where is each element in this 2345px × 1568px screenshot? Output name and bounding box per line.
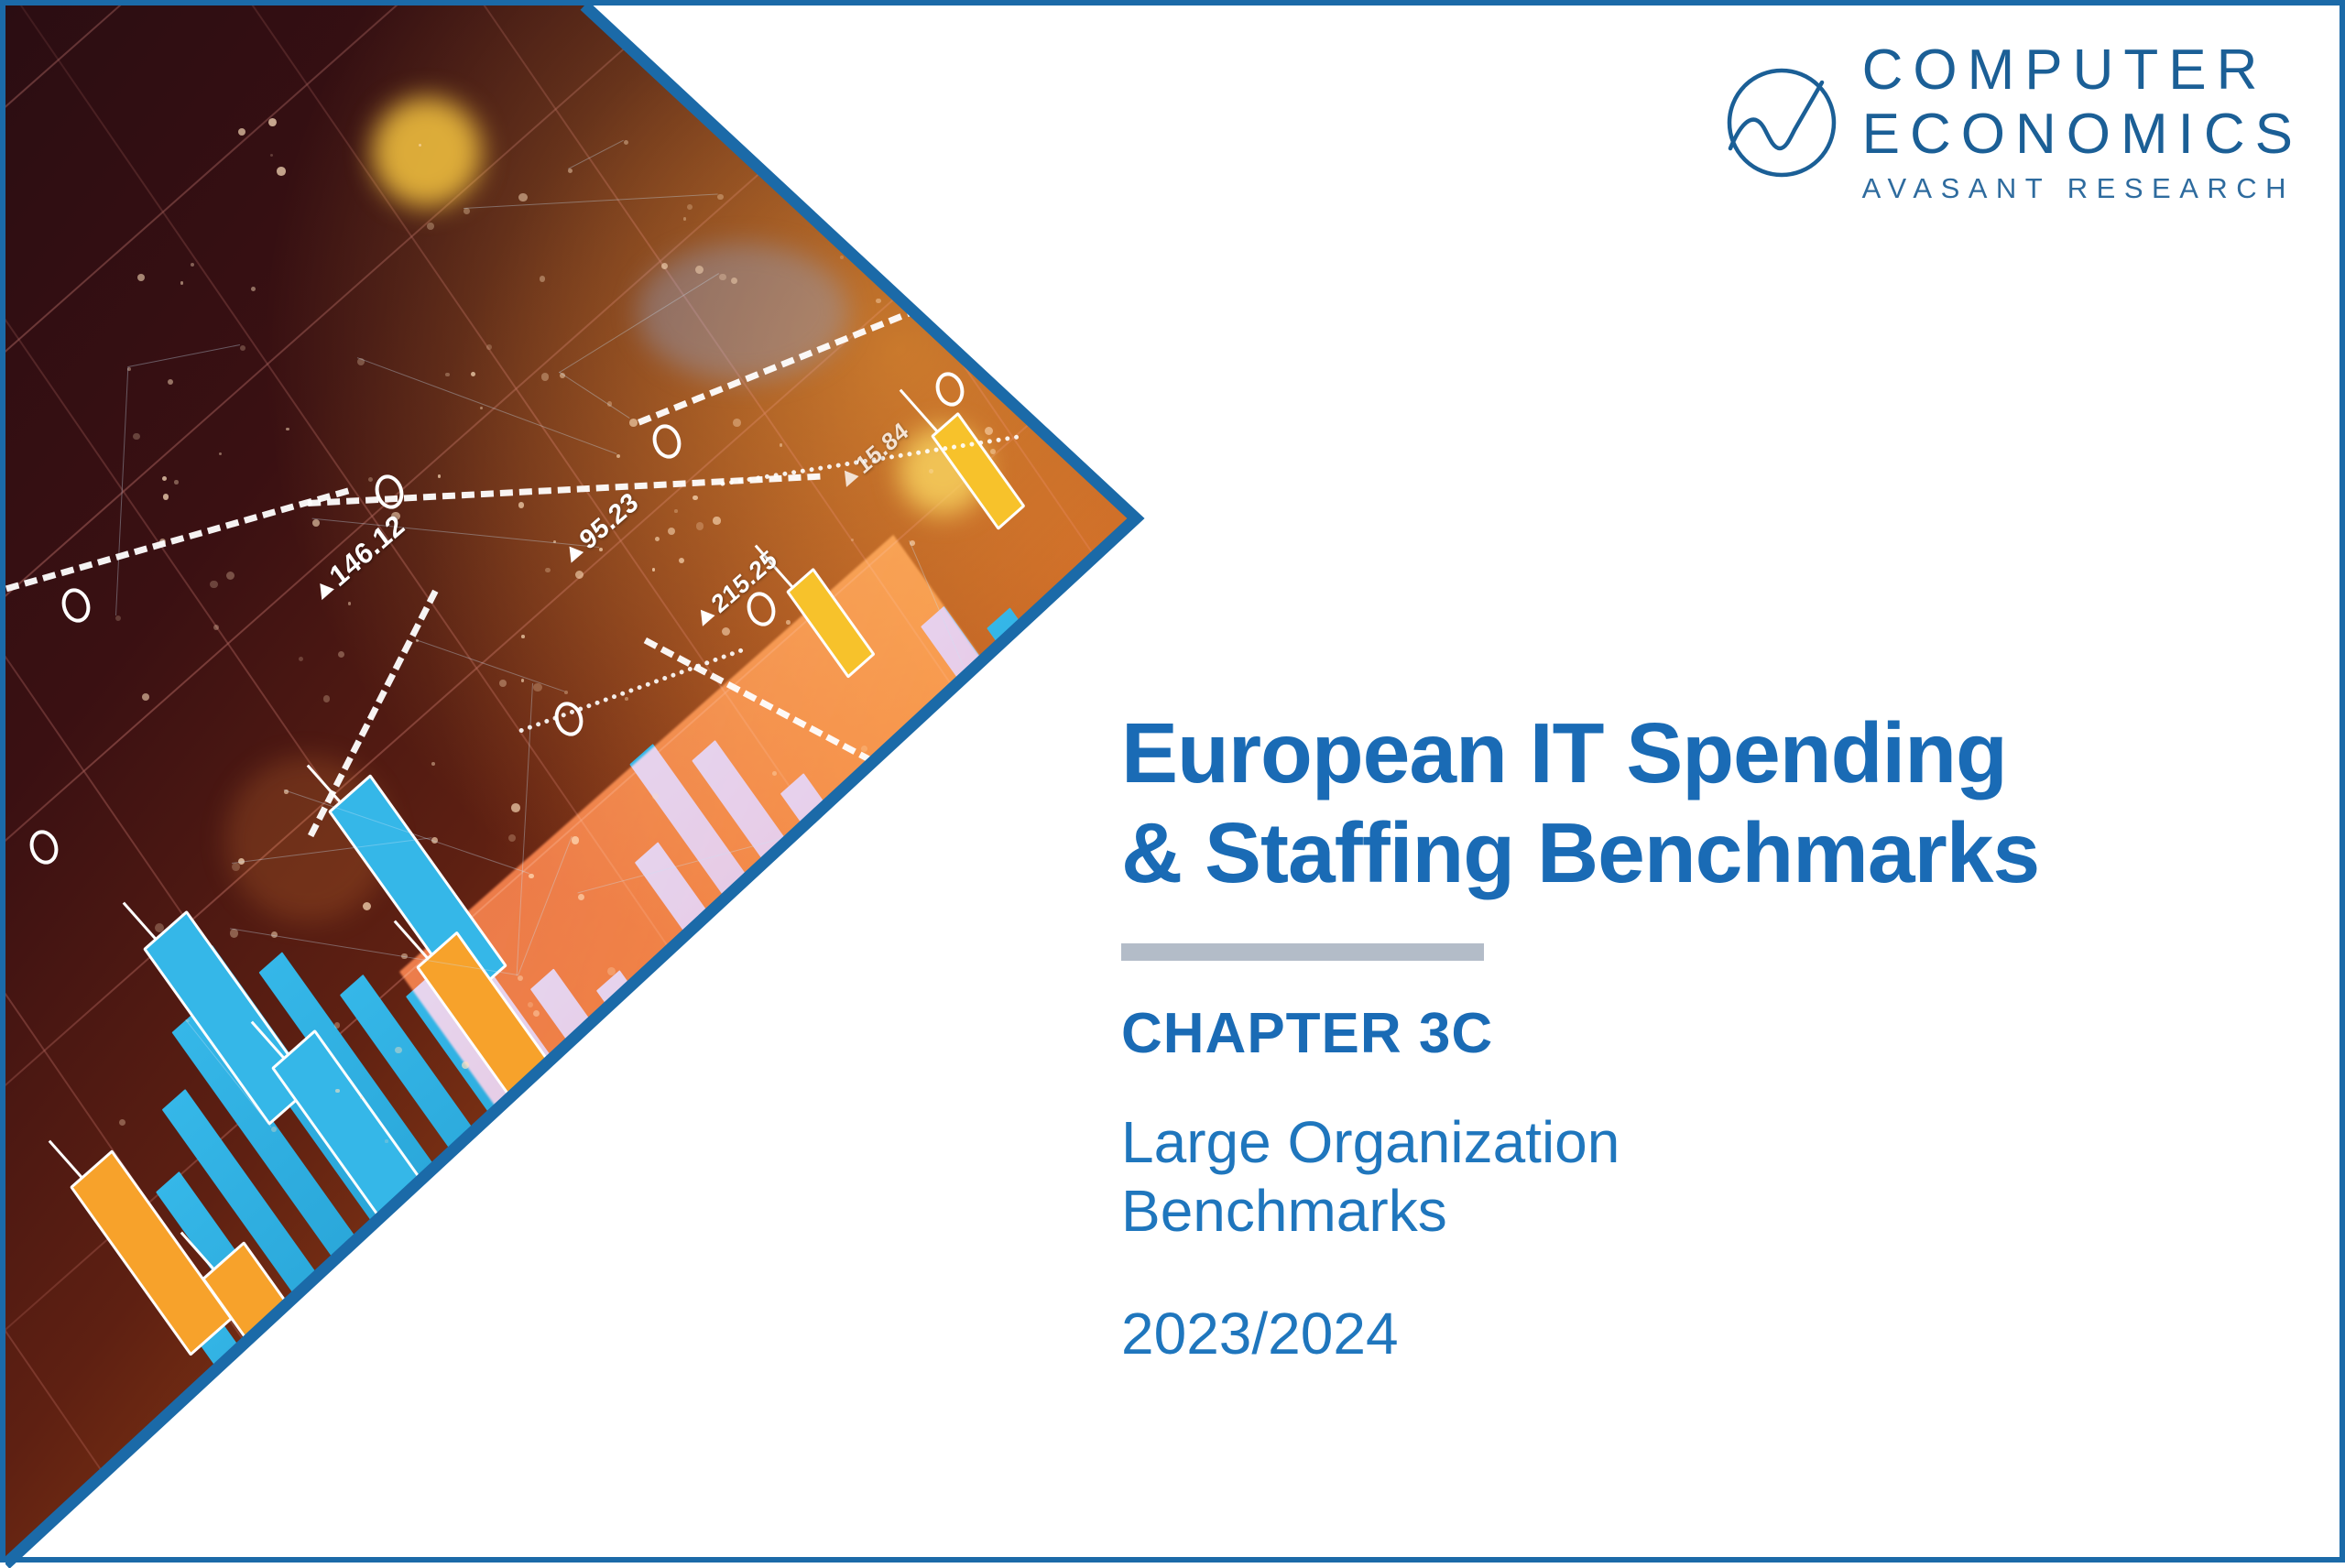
network-dot	[395, 1047, 401, 1053]
logo-line-1: COMPUTER	[1862, 42, 2303, 99]
network-dot	[875, 1126, 882, 1133]
network-dot	[720, 1007, 725, 1012]
cover-artwork: 146.12 95.23 215.25 15.84	[5, 5, 1151, 1568]
network-dot	[717, 194, 723, 200]
chart-bar	[699, 1146, 1042, 1568]
chart-bar	[655, 961, 933, 1338]
cover-copy: European IT Spending & Staffing Benchmar…	[1121, 703, 2266, 1367]
network-dot	[464, 208, 470, 214]
candle-bar	[518, 1236, 657, 1409]
chart-bar	[760, 1154, 1075, 1568]
network-dot	[1002, 1032, 1007, 1037]
network-dot	[687, 204, 693, 210]
chart-bar	[931, 802, 1151, 1127]
network-dot	[997, 740, 1001, 745]
chart-bar	[819, 1157, 1110, 1554]
network-dot	[714, 124, 717, 126]
chart-bar	[623, 1197, 972, 1568]
network-dot	[696, 522, 704, 530]
network-dot	[892, 886, 899, 892]
chart-bar	[868, 806, 1131, 1162]
network-dot	[174, 480, 179, 485]
network-dot	[1000, 935, 1009, 944]
network-dot	[312, 519, 320, 527]
network-dot	[624, 140, 628, 145]
network-dot	[540, 276, 545, 281]
network-dot	[731, 278, 737, 284]
artwork-photo: 146.12 95.23 215.25 15.84	[5, 5, 1151, 1568]
network-dot	[934, 699, 938, 702]
network-dot	[965, 998, 972, 1006]
chart-bar	[894, 949, 1151, 1432]
network-dot	[880, 882, 888, 889]
network-dot	[338, 651, 344, 658]
network-dot	[733, 419, 741, 427]
network-dot	[521, 679, 524, 681]
network-dot	[545, 568, 551, 573]
chart-bar	[596, 970, 893, 1374]
logo-line-3: AVASANT RESEARCH	[1862, 174, 2303, 202]
chart-bar	[926, 704, 1151, 1093]
chart-bar	[780, 773, 1092, 1198]
network-dot	[872, 877, 878, 884]
title-divider	[1121, 943, 1484, 961]
network-dot	[191, 263, 194, 267]
network-dot	[772, 771, 777, 776]
network-dot	[928, 1088, 933, 1094]
network-dot	[652, 568, 656, 572]
title-line-2: & Staffing Benchmarks	[1121, 803, 2248, 903]
network-dot	[719, 274, 726, 281]
title-line-1: European IT Spending	[1121, 703, 2248, 803]
network-dot	[521, 635, 525, 638]
network-dot	[572, 836, 580, 844]
network-dot	[830, 826, 834, 830]
network-dot	[210, 581, 217, 588]
network-dot	[133, 433, 139, 440]
chart-bar	[200, 1415, 455, 1568]
network-dot	[958, 751, 966, 759]
network-dot	[535, 1107, 543, 1116]
network-dot	[480, 407, 483, 409]
cover-page: 146.12 95.23 215.25 15.84 COMPUTER ECONO…	[0, 0, 2345, 1563]
network-dot	[876, 299, 880, 303]
network-dot	[499, 680, 507, 687]
network-dot	[615, 1131, 621, 1138]
network-dot	[363, 902, 371, 910]
network-dot	[786, 620, 791, 625]
network-dot	[693, 495, 697, 500]
network-dot	[629, 419, 638, 427]
network-dot	[163, 494, 169, 499]
chart-bar	[637, 1138, 1007, 1568]
chart-bar	[812, 1069, 1144, 1524]
network-dot	[431, 762, 435, 766]
network-dot	[652, 793, 658, 799]
network-dot	[713, 517, 720, 524]
chapter-label: CHAPTER 3C	[1121, 1001, 2266, 1066]
network-dot	[277, 167, 286, 176]
network-dot	[533, 683, 541, 691]
network-dot	[486, 344, 492, 350]
network-dot	[683, 217, 687, 221]
network-dot	[885, 1094, 890, 1099]
network-dot	[529, 874, 533, 878]
network-dot	[348, 602, 352, 605]
brand-logo: COMPUTER ECONOMICS AVASANT RESEARCH	[1723, 42, 2303, 202]
subtitle-line-2: Benchmarks	[1121, 1177, 2266, 1247]
subtitle-line-1: Large Organization	[1121, 1108, 2266, 1178]
network-dot	[155, 923, 164, 932]
network-dot	[840, 256, 844, 259]
chart-bar	[180, 1296, 495, 1568]
chart-bar	[833, 942, 1151, 1464]
chart-bar	[530, 968, 853, 1409]
candle-wick	[495, 1223, 544, 1278]
network-dot	[427, 223, 434, 230]
bokeh-glow	[372, 97, 482, 207]
network-dot	[180, 281, 184, 285]
network-dot	[286, 428, 289, 430]
network-dot	[578, 894, 584, 900]
edition-year: 2023/2024	[1121, 1300, 2266, 1367]
network-dot	[385, 1139, 387, 1142]
network-dot	[761, 130, 765, 134]
network-dot	[861, 746, 867, 752]
network-dot	[674, 509, 678, 513]
network-dot	[230, 929, 238, 937]
network-dot	[929, 469, 933, 474]
network-dot	[323, 695, 330, 702]
network-dot	[334, 1022, 340, 1028]
network-dot	[240, 345, 245, 351]
network-dot	[438, 474, 442, 478]
chapter-subtitle: Large Organization Benchmarks	[1121, 1108, 2266, 1247]
network-dot	[780, 443, 782, 446]
network-dot	[932, 805, 937, 811]
network-dot	[511, 803, 520, 812]
chart-bar	[616, 1266, 938, 1568]
page-title: European IT Spending & Staffing Benchmar…	[1121, 703, 2248, 903]
network-dot	[986, 117, 990, 122]
logo-line-2: ECONOMICS	[1862, 106, 2303, 163]
network-dot	[213, 625, 219, 630]
computer-economics-logo-icon	[1723, 64, 1840, 181]
logo-wordmark: COMPUTER ECONOMICS AVASANT RESEARCH	[1862, 42, 2303, 202]
network-dot	[528, 1002, 533, 1007]
network-dot	[599, 1083, 603, 1086]
chart-bar	[819, 1000, 1151, 1494]
